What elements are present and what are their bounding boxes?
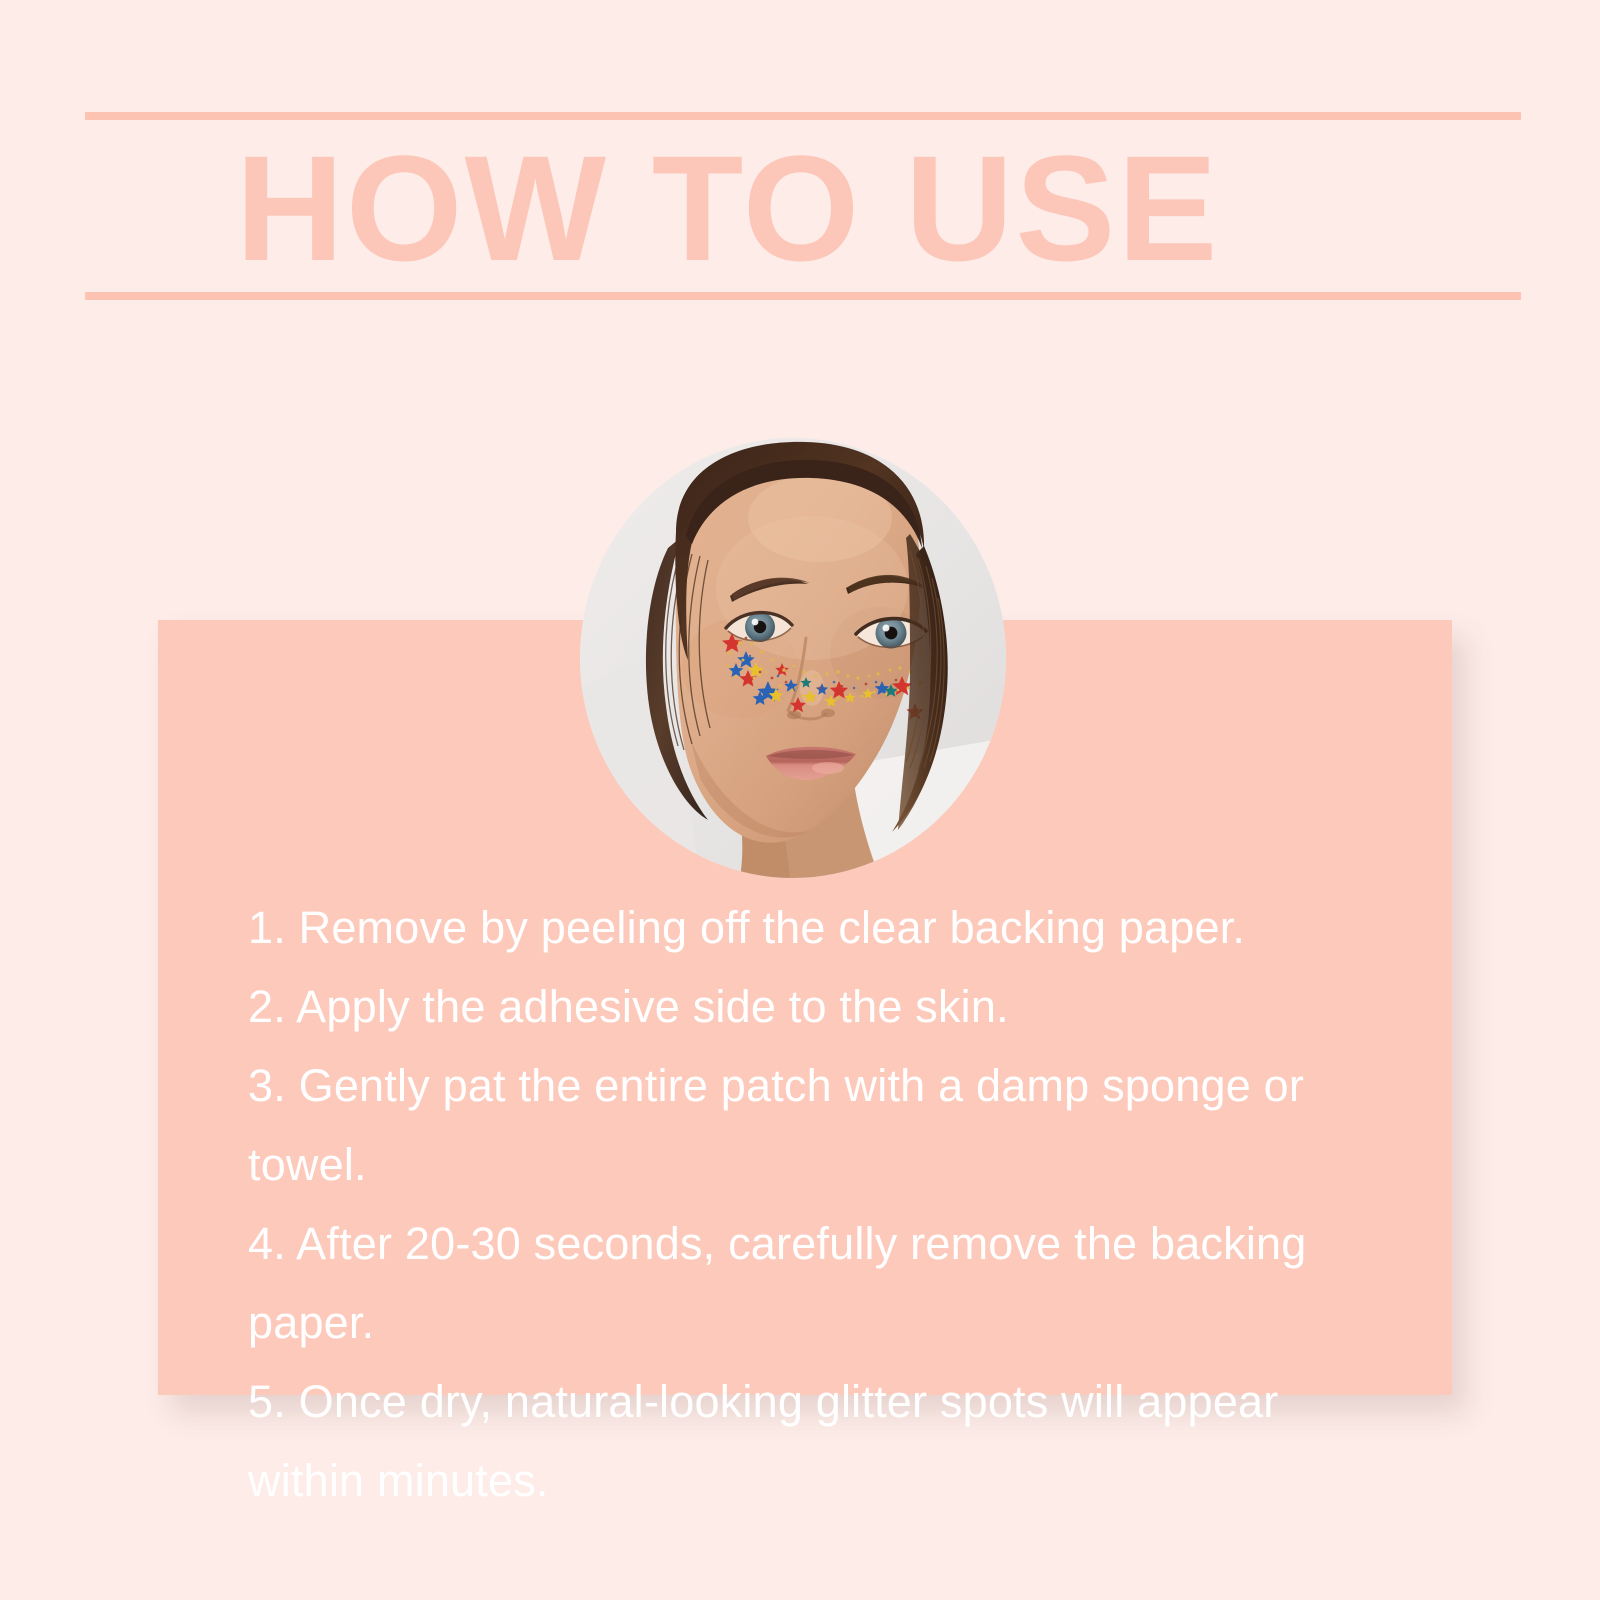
list-item: 5. Once dry, natural-looking glitter spo… (248, 1362, 1363, 1520)
divider-bottom-line (85, 292, 1521, 300)
divider-top-line (85, 112, 1521, 120)
header: HOW TO USE (85, 112, 1521, 302)
portrait-illustration (580, 438, 1006, 878)
list-item: 4. After 20-30 seconds, carefully remove… (248, 1204, 1363, 1362)
portrait-photo (580, 438, 1006, 878)
page-title: HOW TO USE (85, 132, 1370, 284)
how-to-use-infographic: HOW TO USE 1. Remove by peeling off the … (0, 0, 1600, 1600)
list-item: 1. Remove by peeling off the clear backi… (248, 888, 1363, 967)
list-item: 2. Apply the adhesive side to the skin. (248, 967, 1363, 1046)
list-item: 3. Gently pat the entire patch with a da… (248, 1046, 1363, 1204)
instruction-steps-list: 1. Remove by peeling off the clear backi… (248, 888, 1363, 1520)
